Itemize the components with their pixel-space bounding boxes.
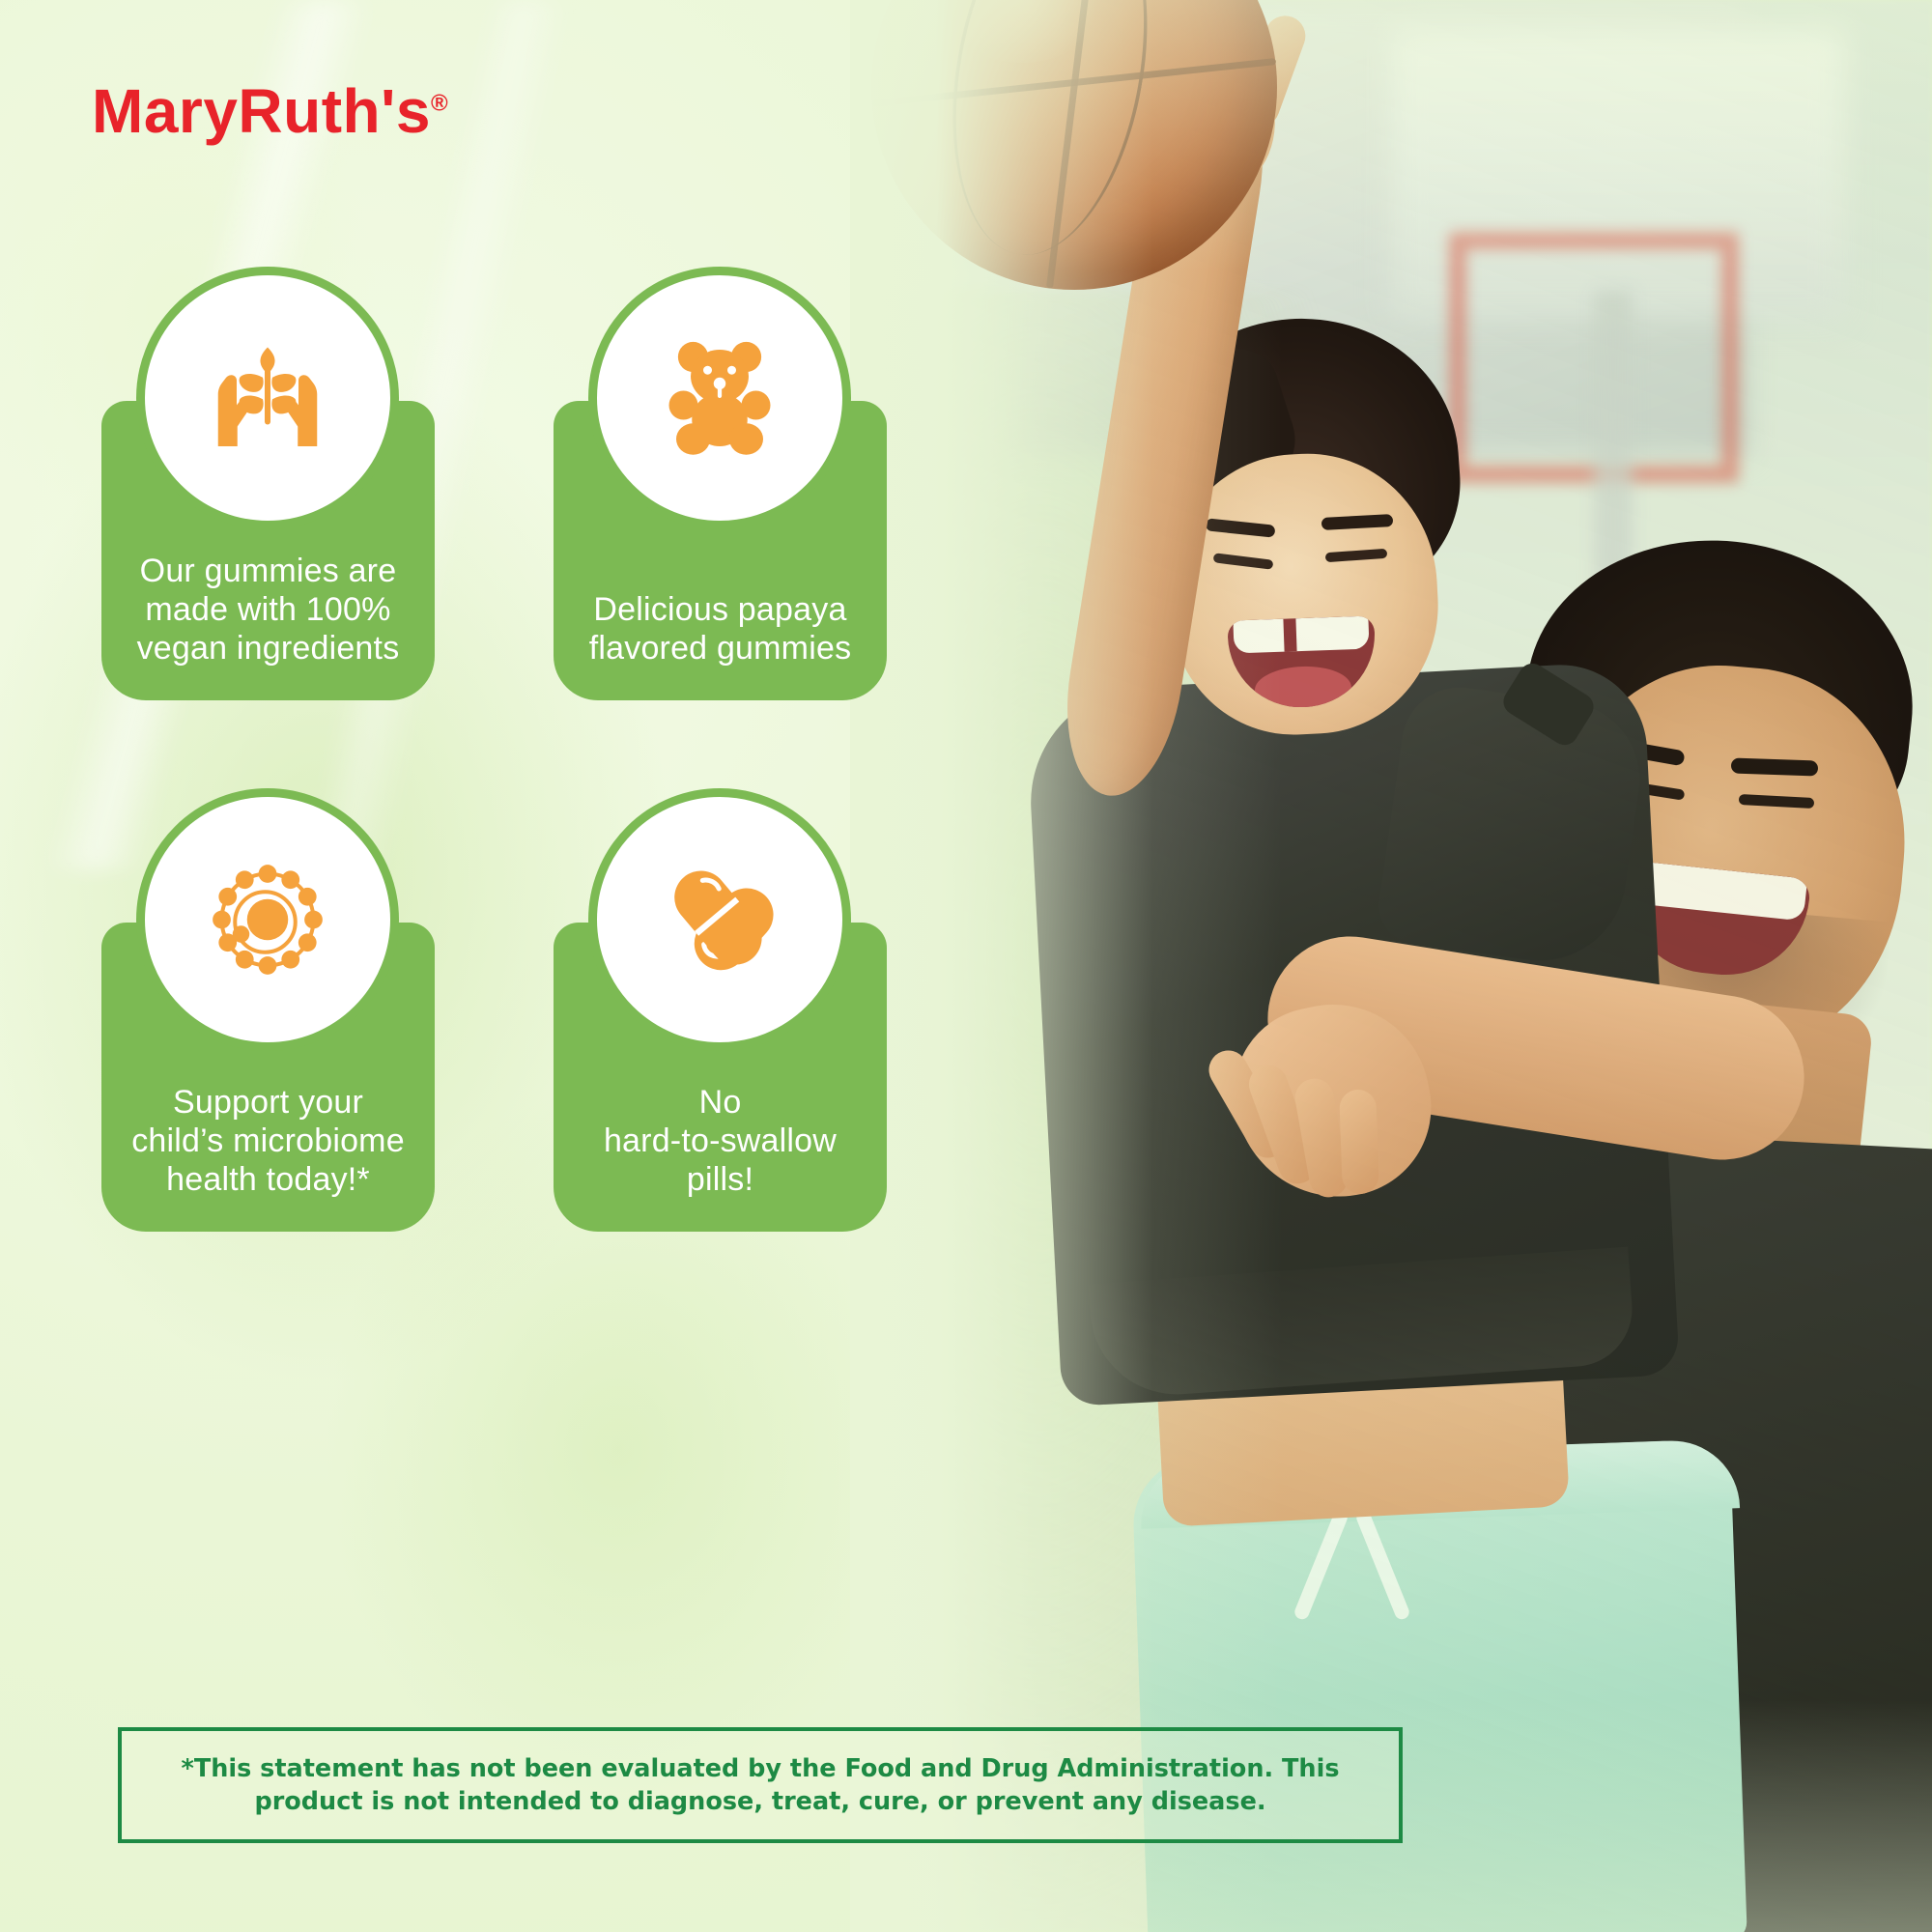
benefit-icon-badge-4 <box>588 788 851 1051</box>
card2-line1: Delicious papaya <box>569 590 871 629</box>
card1-line2: made with 100% <box>117 590 419 629</box>
benefit-card-text: Delicious papaya flavored gummies <box>554 590 887 700</box>
hero-photo <box>850 0 1932 1932</box>
card4-line3: pills! <box>569 1160 871 1199</box>
card3-line1: Support your <box>117 1083 419 1122</box>
gummy-bear-icon <box>647 326 792 470</box>
benefit-icon-badge-2 <box>588 267 851 529</box>
card1-line3: vegan ingredients <box>117 629 419 668</box>
capsule-pills-icon <box>647 847 792 992</box>
card2-line2: flavored gummies <box>569 629 871 668</box>
fda-disclaimer-text: *This statement has not been evaluated b… <box>149 1752 1372 1819</box>
microbiome-atom-icon <box>195 847 340 992</box>
logo-mary: Mary <box>92 76 238 146</box>
brand-logo[interactable]: MaryRuth's® <box>92 75 448 147</box>
benefit-icon-badge-3 <box>136 788 399 1051</box>
benefit-icon-badge-1 <box>136 267 399 529</box>
hands-holding-plant-icon <box>195 326 340 470</box>
benefit-card-text: Support your child’s microbiome health t… <box>101 1083 435 1232</box>
card4-line2: hard-to-swallow <box>569 1122 871 1160</box>
registered-trademark-icon: ® <box>431 91 448 117</box>
card4-line1: No <box>569 1083 871 1122</box>
benefit-card-text: Our gummies are made with 100% vegan ing… <box>101 552 435 700</box>
photo-edge-fade <box>850 0 1932 1932</box>
card1-line1: Our gummies are <box>117 552 419 590</box>
fda-disclaimer-box: *This statement has not been evaluated b… <box>118 1727 1403 1843</box>
card3-line3: health today!* <box>117 1160 419 1199</box>
logo-ruths: Ruth's <box>238 76 431 146</box>
benefit-card-text: No hard-to-swallow pills! <box>554 1083 887 1232</box>
card3-line2: child’s microbiome <box>117 1122 419 1160</box>
